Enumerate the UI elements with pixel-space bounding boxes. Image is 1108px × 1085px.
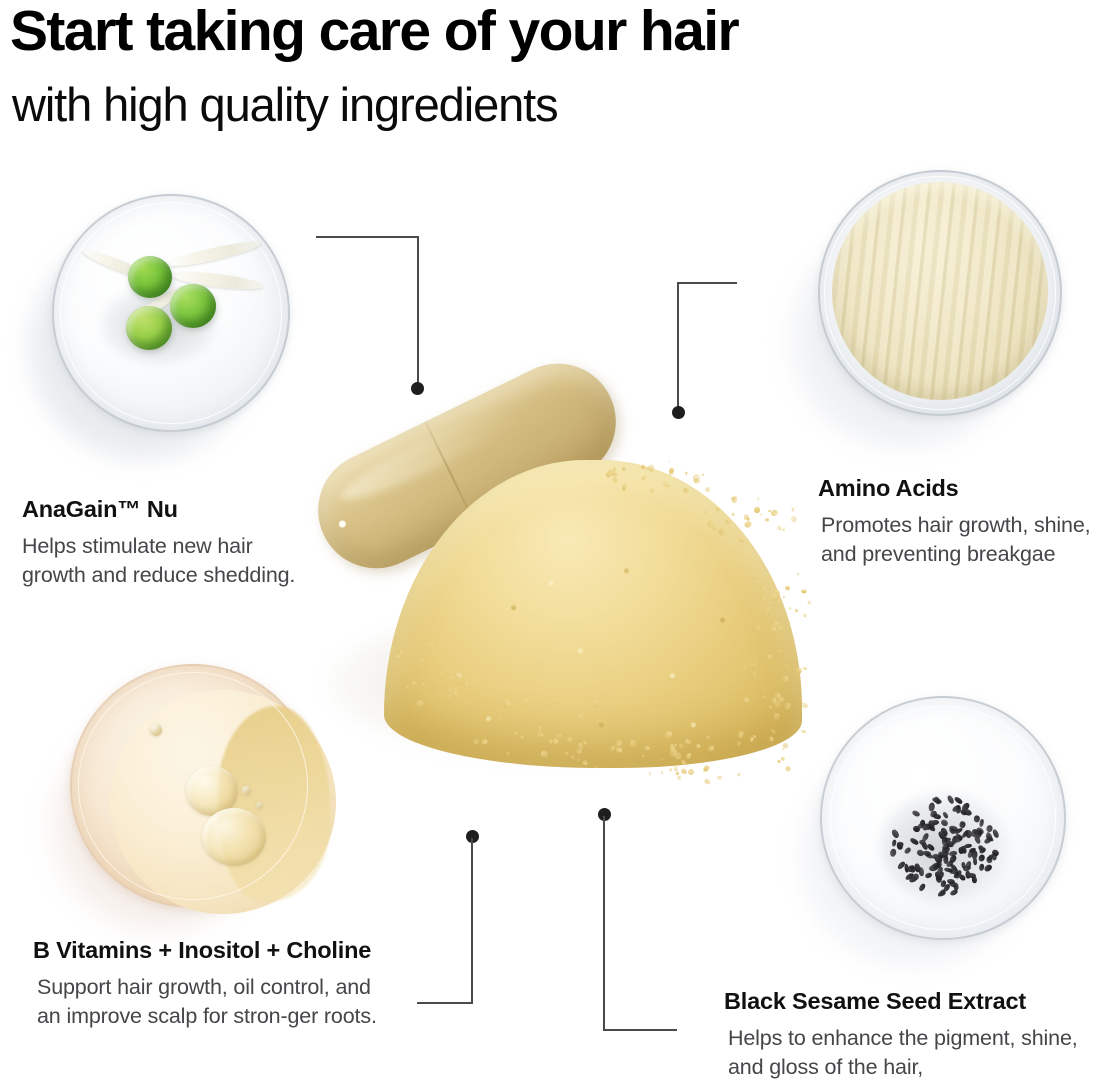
leader-line-amino-horizontal bbox=[677, 282, 737, 284]
powder-crumb bbox=[802, 667, 807, 671]
powder-crumb bbox=[642, 755, 645, 757]
powder-crumb bbox=[439, 670, 443, 675]
ingredient-label-black-sesame: Black Sesame Seed Extract Helps to enhan… bbox=[724, 987, 1108, 1083]
oil-bubble bbox=[150, 724, 162, 736]
powder-crumb bbox=[672, 472, 674, 475]
powder-crumb bbox=[661, 771, 664, 774]
powder-crumb bbox=[737, 772, 742, 777]
ingredient-image-amino-acids bbox=[780, 160, 1100, 470]
pea-sprout bbox=[170, 284, 216, 328]
capsule-highlight-dot bbox=[338, 519, 347, 528]
ingredient-description: Support hair growth, oil control, and an… bbox=[33, 973, 378, 1032]
powder-crumb bbox=[648, 772, 651, 776]
powder-crumb bbox=[802, 613, 806, 618]
powder-crumb bbox=[776, 525, 782, 531]
ingredient-image-black-sesame bbox=[792, 682, 1092, 982]
leader-line-amino-vertical bbox=[677, 282, 679, 414]
leader-line-anagain-vertical bbox=[417, 236, 419, 388]
powder-crumb bbox=[549, 740, 552, 744]
powder-crumb bbox=[685, 471, 688, 474]
powder-crumb bbox=[791, 507, 794, 511]
powder-crumb bbox=[797, 572, 799, 575]
ingredient-label-b-vitamins: B Vitamins + Inositol + Choline Support … bbox=[33, 936, 378, 1032]
ingredient-image-anagain bbox=[18, 178, 308, 478]
ingredient-label-amino-acids: Amino Acids Promotes hair growth, shine,… bbox=[818, 474, 1108, 570]
powder-crumb bbox=[705, 487, 710, 493]
pea-sprout bbox=[126, 306, 172, 350]
oil-droplet bbox=[202, 808, 266, 866]
ingredient-label-anagain: AnaGain™ Nu Helps stimulate new hair gro… bbox=[22, 495, 302, 591]
page-title: Start taking care of your hair bbox=[10, 2, 738, 61]
powder-crumb bbox=[564, 724, 566, 726]
ingredient-title: Amino Acids bbox=[818, 474, 1108, 504]
powder-crumb bbox=[788, 607, 791, 610]
leader-line-b-vitamins-horizontal bbox=[417, 1002, 473, 1004]
powder-crumb bbox=[686, 767, 695, 776]
sesame-seed bbox=[978, 863, 984, 871]
powder-crumb bbox=[806, 600, 811, 605]
powder-crumb bbox=[396, 655, 402, 659]
powder-crumb bbox=[669, 768, 672, 772]
powder-crumb bbox=[777, 759, 782, 764]
powder-crumb bbox=[760, 514, 762, 517]
product-capsule-and-powder bbox=[296, 398, 824, 790]
powder-crumb bbox=[668, 460, 671, 462]
petri-dish-glass bbox=[70, 664, 316, 908]
powder-crumb bbox=[506, 751, 509, 755]
ingredient-description: Promotes hair growth, shine, and prevent… bbox=[818, 511, 1108, 570]
powder-crumb bbox=[446, 673, 452, 679]
oil-bubble bbox=[256, 802, 263, 809]
powder-crumb bbox=[788, 620, 791, 622]
ingredient-description: Helps to enhance the pigment, shine, and… bbox=[724, 1024, 1108, 1083]
powder-crumb bbox=[693, 477, 700, 484]
page-subtitle: with high quality ingredients bbox=[12, 80, 558, 131]
powder-crumb bbox=[781, 757, 785, 761]
powder-crumb bbox=[783, 596, 786, 599]
powder-crumb bbox=[770, 509, 779, 518]
powder-crumb bbox=[577, 748, 582, 753]
sesame-seed bbox=[943, 855, 948, 864]
leader-dot-anagain bbox=[411, 382, 424, 395]
powder-crumb bbox=[768, 510, 771, 512]
sesame-seed bbox=[973, 815, 979, 823]
infographic-canvas: Start taking care of your hair with high… bbox=[0, 0, 1108, 1085]
powder-crumb bbox=[785, 766, 791, 773]
powder-crumb bbox=[756, 497, 759, 500]
leader-line-anagain-horizontal bbox=[316, 236, 419, 238]
powder-crumb bbox=[717, 776, 722, 780]
powder-crumb bbox=[783, 529, 785, 532]
powder-crumb bbox=[801, 729, 807, 734]
ingredient-title: AnaGain™ Nu bbox=[22, 495, 302, 525]
ingredient-description: Helps stimulate new hair growth and redu… bbox=[22, 532, 302, 591]
powder-crumb bbox=[565, 752, 568, 755]
leader-line-b-vitamins-vertical bbox=[471, 838, 473, 1004]
powder-crumb bbox=[422, 683, 425, 687]
ingredient-title: Black Sesame Seed Extract bbox=[724, 987, 1108, 1017]
powder-crumb bbox=[752, 672, 756, 676]
powder-crumb bbox=[605, 472, 611, 477]
powder-crumb bbox=[765, 517, 769, 520]
pea-sprout bbox=[128, 256, 172, 298]
powder-crumb bbox=[751, 691, 753, 693]
powder-crumb bbox=[677, 776, 682, 781]
powder-crumb bbox=[744, 520, 753, 528]
amino-acid-powder bbox=[832, 182, 1048, 400]
powder-crumb bbox=[403, 651, 409, 657]
petri-dish-glass bbox=[820, 696, 1066, 940]
ingredient-title: B Vitamins + Inositol + Choline bbox=[33, 936, 378, 966]
powder-crumb bbox=[536, 732, 542, 736]
powder-crumb bbox=[790, 515, 797, 522]
powder-crumb bbox=[593, 765, 597, 769]
leader-dot-amino bbox=[672, 406, 685, 419]
powder-crumb bbox=[732, 513, 736, 517]
powder-crumb bbox=[795, 608, 799, 612]
leader-line-black-sesame-vertical bbox=[603, 816, 605, 1030]
powder-crumb bbox=[449, 689, 452, 692]
powder-crumb bbox=[754, 570, 757, 572]
oil-bubble bbox=[242, 786, 251, 795]
powder-crumb bbox=[702, 764, 710, 773]
powder-crumb bbox=[702, 474, 704, 476]
leader-line-black-sesame-horizontal bbox=[603, 1029, 677, 1031]
powder-crumb bbox=[704, 778, 711, 785]
powder-crumb bbox=[784, 586, 790, 592]
